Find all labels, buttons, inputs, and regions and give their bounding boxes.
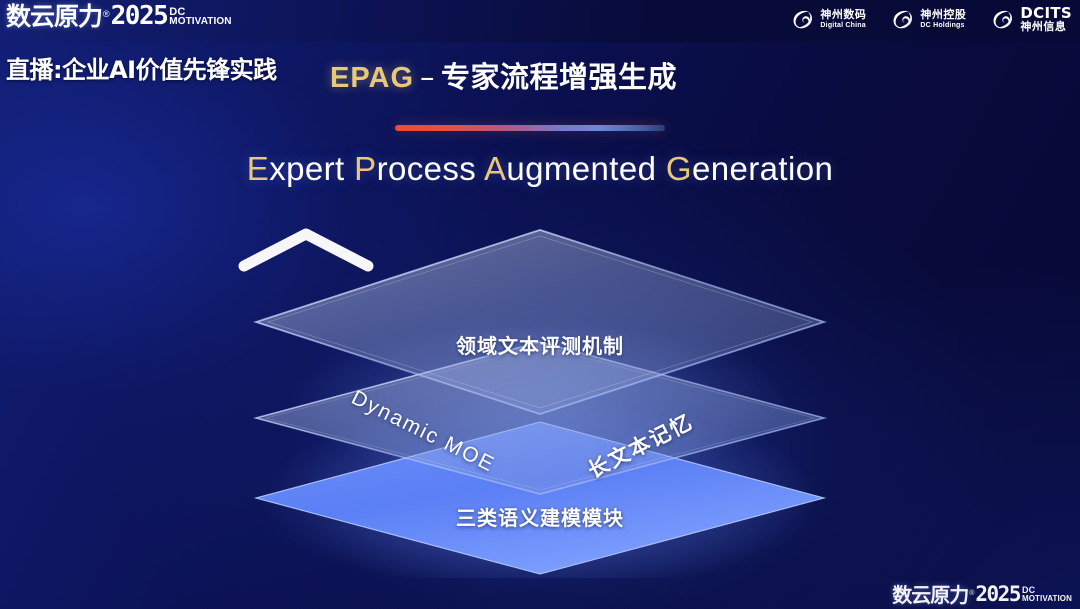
subtitle-rest: eneration xyxy=(692,150,833,187)
title-separator: – xyxy=(420,60,435,94)
page-title: EPAG–专家流程增强生成 xyxy=(330,54,677,96)
title-chinese: 专家流程增强生成 xyxy=(441,60,677,94)
registered-mark-icon: ® xyxy=(103,10,110,19)
partner-name-cn: 神州数码 xyxy=(820,10,866,22)
subtitle-rest: xpert xyxy=(269,150,344,187)
header-bar: 数云原力 ® 2025 DC MOTIVATION 神州数码 Digital C… xyxy=(0,0,1080,42)
partner-logo-group: 神州数码 Digital China 神州控股 DC Holdings xyxy=(790,6,1072,33)
watermark-logo: 数云原力 ® 2025 DC MOTIVATION xyxy=(892,584,1072,605)
brand-motivation: MOTIVATION xyxy=(169,17,231,26)
watermark-name-cn: 数云原力 xyxy=(892,585,968,605)
registered-mark-icon: ® xyxy=(969,590,974,597)
subtitle-word-expert: Expert xyxy=(247,150,345,187)
swirl-logo-icon xyxy=(990,7,1015,32)
partner-logo-dcits: DCITS 神州信息 xyxy=(990,6,1072,33)
partner-name-cn: 神州信息 xyxy=(1020,22,1072,34)
partner-text: 神州控股 DC Holdings xyxy=(920,10,966,29)
subtitle-cap: G xyxy=(666,150,692,187)
partner-text: 神州数码 Digital China xyxy=(820,10,866,29)
brand-dc-motivation: DC MOTIVATION xyxy=(169,7,231,26)
layer-label-top: 领域文本评测机制 xyxy=(236,330,844,359)
slide-canvas: 数云原力 ® 2025 DC MOTIVATION 神州数码 Digital C… xyxy=(0,0,1080,609)
subtitle-cap: E xyxy=(247,150,269,187)
subtitle-word-generation: Generation xyxy=(666,150,833,187)
subtitle-cap: P xyxy=(354,150,376,187)
watermark-year: 2025 xyxy=(975,584,1020,605)
accent-gradient-bar xyxy=(395,125,665,131)
watermark-dc-motivation: DC MOTIVATION xyxy=(1022,586,1072,602)
partner-name-cn: 神州控股 xyxy=(920,10,966,22)
layer-stack-diagram: 领域文本评测机制 Dynamic MOE 长文本记忆 三类语义建模模块 xyxy=(236,226,844,578)
partner-name-en: DCITS xyxy=(1020,6,1072,22)
subtitle-rest: rocess xyxy=(377,150,477,187)
subtitle-rest: ugmented xyxy=(506,150,656,187)
partner-text: DCITS 神州信息 xyxy=(1020,6,1072,33)
partner-name-en: Digital China xyxy=(820,22,866,29)
partner-logo-dc-holdings: 神州控股 DC Holdings xyxy=(890,7,966,32)
live-stream-label: 直播:企业AI价值先锋实践 xyxy=(6,50,277,85)
subtitle-word-process: Process xyxy=(354,150,476,187)
partner-name-en: DC Holdings xyxy=(920,22,966,29)
watermark-motivation: MOTIVATION xyxy=(1022,595,1072,602)
swirl-logo-icon xyxy=(790,7,815,32)
subtitle-cap: A xyxy=(484,150,506,187)
chevron-up-icon xyxy=(236,226,376,272)
subtitle-word-augmented: Augmented xyxy=(484,150,656,187)
layer-label-bottom: 三类语义建模模块 xyxy=(236,502,844,531)
brand-logo: 数云原力 ® 2025 DC MOTIVATION xyxy=(6,3,232,29)
title-acronym: EPAG xyxy=(330,62,414,94)
partner-logo-digital-china: 神州数码 Digital China xyxy=(790,7,866,32)
subtitle: Expert Process Augmented Generation xyxy=(0,150,1080,188)
brand-name-cn: 数云原力 xyxy=(6,4,102,29)
brand-year: 2025 xyxy=(111,3,168,29)
swirl-logo-icon xyxy=(890,7,915,32)
